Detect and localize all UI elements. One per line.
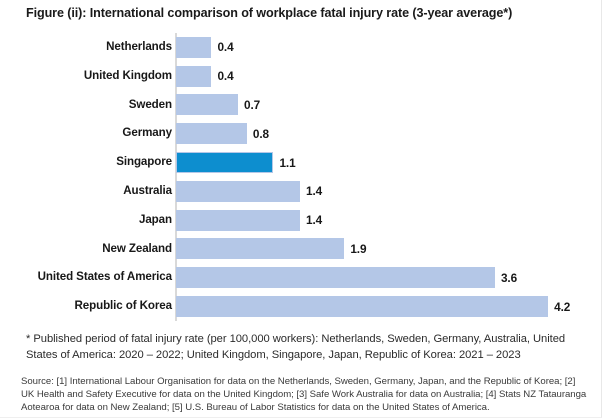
bar-row: Netherlands0.4 <box>0 33 602 62</box>
category-label: Japan <box>139 206 172 235</box>
bar-value-label: 1.4 <box>306 213 322 227</box>
bar[interactable] <box>176 296 548 317</box>
bar-value-label: 0.4 <box>217 40 233 54</box>
bar-value-label: 0.7 <box>244 98 260 112</box>
bar-row: Republic of Korea4.2 <box>0 292 602 321</box>
bar[interactable] <box>176 267 495 288</box>
category-label: Netherlands <box>106 33 172 62</box>
category-label: Sweden <box>129 91 172 120</box>
bar-and-value: 1.4 <box>176 206 322 235</box>
category-label: Republic of Korea <box>74 292 172 321</box>
bar[interactable] <box>176 37 211 58</box>
figure-container: Figure (ii): International comparison of… <box>0 0 602 418</box>
bar-and-value: 1.9 <box>176 235 366 264</box>
category-label: Australia <box>123 177 172 206</box>
bar-and-value: 1.4 <box>176 177 322 206</box>
category-label: Singapore <box>116 148 172 177</box>
category-label: United Kingdom <box>84 62 172 91</box>
bar-value-label: 3.6 <box>501 271 517 285</box>
bar-chart: Netherlands0.4United Kingdom0.4Sweden0.7… <box>0 33 602 321</box>
bar-and-value: 4.2 <box>176 292 570 321</box>
figure-source: Source: [1] International Labour Organis… <box>21 375 587 415</box>
bar[interactable] <box>176 94 238 115</box>
bar[interactable] <box>176 238 344 259</box>
bar-and-value: 0.4 <box>176 62 234 91</box>
bar-and-value: 3.6 <box>176 263 517 292</box>
bar-value-label: 1.9 <box>350 242 366 256</box>
bar[interactable] <box>176 123 247 144</box>
category-label: Germany <box>122 119 172 148</box>
bar-and-value: 0.7 <box>176 91 260 120</box>
bar-value-label: 0.4 <box>217 69 233 83</box>
bar[interactable] <box>176 210 300 231</box>
category-label: United States of America <box>38 263 172 292</box>
bar-value-label: 1.4 <box>306 184 322 198</box>
bar-row: Germany0.8 <box>0 119 602 148</box>
bar-value-label: 4.2 <box>554 300 570 314</box>
bar[interactable] <box>176 66 211 87</box>
bar-value-label: 1.1 <box>279 156 295 170</box>
bar-value-label: 0.8 <box>253 127 269 141</box>
bar-row: United States of America3.6 <box>0 263 602 292</box>
bar-row: United Kingdom0.4 <box>0 62 602 91</box>
bar-row: Japan1.4 <box>0 206 602 235</box>
bar-row: Australia1.4 <box>0 177 602 206</box>
figure-footnote: * Published period of fatal injury rate … <box>26 332 582 363</box>
bar-row: New Zealand1.9 <box>0 235 602 264</box>
bar-highlighted[interactable] <box>176 152 273 173</box>
bar[interactable] <box>176 181 300 202</box>
bar-row: Singapore1.1 <box>0 148 602 177</box>
bar-and-value: 1.1 <box>176 148 296 177</box>
category-label: New Zealand <box>102 235 172 264</box>
figure-title: Figure (ii): International comparison of… <box>26 5 586 21</box>
bar-row: Sweden0.7 <box>0 91 602 120</box>
bar-and-value: 0.8 <box>176 119 269 148</box>
bar-row-list: Netherlands0.4United Kingdom0.4Sweden0.7… <box>0 33 602 321</box>
bar-and-value: 0.4 <box>176 33 234 62</box>
